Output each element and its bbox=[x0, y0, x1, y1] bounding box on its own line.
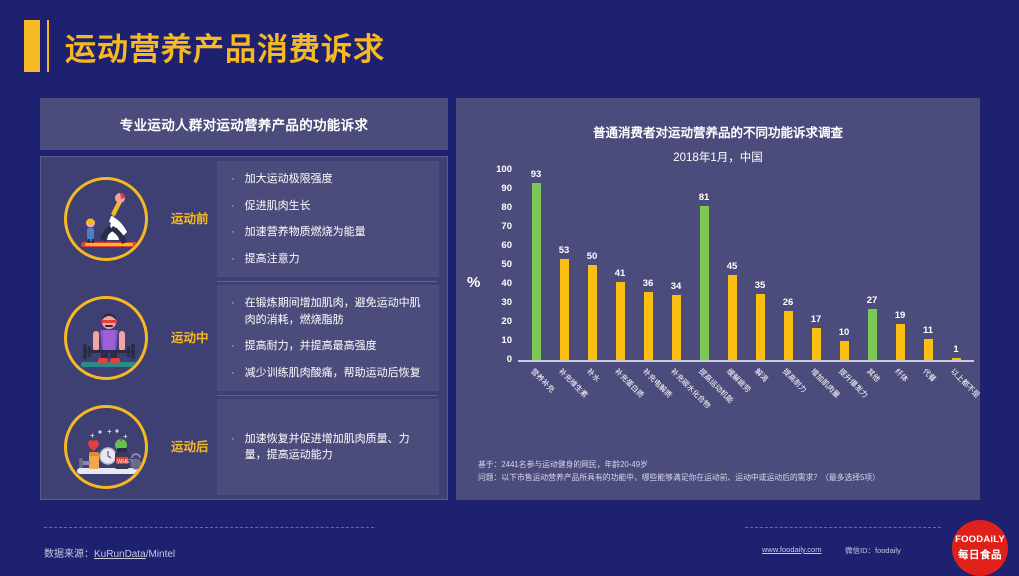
bullet-marker: · bbox=[231, 198, 235, 215]
x-label-slot: 代餐 bbox=[914, 364, 942, 464]
y-axis-tick: 70 bbox=[486, 221, 512, 232]
phase-row: + + + bbox=[41, 395, 447, 499]
footer-rule-left bbox=[44, 527, 374, 528]
left-panel: 专业运动人群对运动营养产品的功能诉求 bbox=[40, 98, 448, 500]
list-item: · 加速恢复并促进增加肌肉质量、力量，提高运动能力 bbox=[231, 431, 425, 464]
bar[interactable] bbox=[868, 309, 877, 360]
x-label-slot: 纤体 bbox=[886, 364, 914, 464]
y-axis-tick: 80 bbox=[486, 202, 512, 213]
list-item: · 在锻炼期间增加肌肉，避免运动中肌肉的消耗，燃烧脂肪 bbox=[231, 295, 425, 328]
list-item: · 促进肌肉生长 bbox=[231, 198, 425, 215]
chart-plot-area: % 1009080706050403020100 935350413634814… bbox=[456, 170, 980, 470]
phase-label: 运动后 bbox=[171, 440, 217, 455]
bar-slot: 45 bbox=[718, 170, 746, 360]
bullet-text: 在锻炼期间增加肌肉，避免运动中肌肉的消耗，燃烧脂肪 bbox=[245, 295, 425, 328]
y-axis-tick: 20 bbox=[486, 316, 512, 327]
bar[interactable] bbox=[616, 282, 625, 360]
svg-text:+: + bbox=[123, 432, 128, 441]
bar[interactable] bbox=[532, 183, 541, 360]
bar-slot: 27 bbox=[858, 170, 886, 360]
footer-rule-right bbox=[745, 527, 941, 528]
x-label-slot: 补充蛋白质 bbox=[606, 364, 634, 464]
phase-bullets: · 在锻炼期间增加肌肉，避免运动中肌肉的消耗，燃烧脂肪 · 提高耐力，并提高最高… bbox=[217, 285, 439, 391]
x-label-slot: 补充维生素 bbox=[550, 364, 578, 464]
bar-slot: 10 bbox=[830, 170, 858, 360]
phase-row: 运动前 · 加大运动极限强度 · 促进肌肉生长 · 加速营养物质燃烧为能量 · … bbox=[41, 157, 447, 281]
x-label-slot: 营养补充 bbox=[522, 364, 550, 464]
bullet-text: 加速恢复并促进增加肌肉质量、力量，提高运动能力 bbox=[245, 431, 425, 464]
bar[interactable] bbox=[644, 292, 653, 360]
foodaily-logo: FOODAiLY 每日食品 bbox=[952, 520, 1008, 576]
bullet-text: 提高耐力，并提高最高强度 bbox=[245, 338, 377, 355]
bullet-marker: · bbox=[231, 224, 235, 241]
x-axis-tick-label: 代餐 bbox=[920, 366, 938, 384]
x-axis-tick-label: 补水 bbox=[584, 366, 602, 384]
data-source: 数据来源：KuRunData/Mintel bbox=[44, 545, 175, 560]
x-axis-tick-label: 以上都不是 bbox=[948, 366, 982, 400]
bullet-text: 提高注意力 bbox=[245, 251, 300, 268]
logo-text-cn: 每日食品 bbox=[958, 547, 1002, 562]
title-accent-bar bbox=[24, 20, 40, 72]
bullet-marker: · bbox=[231, 295, 235, 312]
x-axis-tick-label: 解渴 bbox=[752, 366, 770, 384]
bars-container: 9353504136348145352617102719111 bbox=[522, 170, 970, 360]
y-axis-tick: 90 bbox=[486, 183, 512, 194]
y-axis-tick: 0 bbox=[486, 354, 512, 365]
phase-label: 运动前 bbox=[171, 212, 217, 227]
list-item: · 提高耐力，并提高最高强度 bbox=[231, 338, 425, 355]
y-axis-tick: 50 bbox=[486, 259, 512, 270]
phase-bullets: · 加速恢复并促进增加肌肉质量、力量，提高运动能力 bbox=[217, 399, 439, 495]
logo-text-en: FOODAiLY bbox=[955, 534, 1005, 545]
bullet-text: 加大运动极限强度 bbox=[245, 171, 333, 188]
chart-panel: 普通消费者对运动营养品的不同功能诉求调查 2018年1月，中国 % 100908… bbox=[456, 98, 980, 500]
chart-title: 普通消费者对运动营养品的不同功能诉求调查 bbox=[456, 122, 980, 141]
bar[interactable] bbox=[700, 206, 709, 360]
phase-icon-cell: + + + bbox=[41, 405, 171, 489]
x-axis-labels: 营养补充补充维生素补水补充蛋白质补充电解质补充碳水化合物提高运动机能缓解疲劳解渴… bbox=[522, 364, 970, 464]
x-label-slot: 以上都不是 bbox=[942, 364, 970, 464]
bullet-marker: · bbox=[231, 431, 235, 448]
phase-bullets: · 加大运动极限强度 · 促进肌肉生长 · 加速营养物质燃烧为能量 · 提高注意… bbox=[217, 161, 439, 277]
svg-text:+: + bbox=[107, 427, 112, 436]
y-axis-tick: 60 bbox=[486, 240, 512, 251]
bullet-marker: · bbox=[231, 365, 235, 382]
bar-slot: 41 bbox=[606, 170, 634, 360]
data-source-label: 数据来源： bbox=[44, 549, 94, 560]
bar[interactable] bbox=[728, 275, 737, 361]
x-label-slot: 补水 bbox=[578, 364, 606, 464]
phase-icon-cell bbox=[41, 177, 171, 261]
left-panel-header: 专业运动人群对运动营养产品的功能诉求 bbox=[40, 98, 448, 150]
x-label-slot: 补充电解质 bbox=[634, 364, 662, 464]
y-axis-tick: 10 bbox=[486, 335, 512, 346]
y-axis-label: % bbox=[467, 274, 480, 291]
wechat-id: 微信ID：foodaily bbox=[845, 545, 901, 556]
bullet-text: 促进肌肉生长 bbox=[245, 198, 311, 215]
list-item: · 提高注意力 bbox=[231, 251, 425, 268]
x-label-slot: 缓解疲劳 bbox=[718, 364, 746, 464]
x-label-slot: 解渴 bbox=[746, 364, 774, 464]
x-label-slot: 增加肌肉量 bbox=[802, 364, 830, 464]
footnote-base: 基于：2441名参与运动健身的网民，年龄20-49岁 bbox=[478, 458, 970, 471]
list-item: · 加速营养物质燃烧为能量 bbox=[231, 224, 425, 241]
bar[interactable] bbox=[812, 328, 821, 360]
bullet-text: 加速营养物质燃烧为能量 bbox=[245, 224, 366, 241]
x-axis-line bbox=[518, 360, 974, 362]
bullet-text: 减少训练肌肉酸痛，帮助运动后恢复 bbox=[245, 365, 421, 382]
x-label-slot: 补充碳水化合物 bbox=[662, 364, 690, 464]
bar[interactable] bbox=[924, 339, 933, 360]
data-source-link[interactable]: KuRunData bbox=[94, 549, 146, 560]
phase-icon-cell bbox=[41, 296, 171, 380]
x-axis-tick-label: 纤体 bbox=[892, 366, 910, 384]
x-label-slot: 提高运动机能 bbox=[690, 364, 718, 464]
bar[interactable] bbox=[560, 259, 569, 360]
page-title: 运动营养产品消费诉求 bbox=[65, 24, 385, 69]
bullet-marker: · bbox=[231, 171, 235, 188]
yoga-illustration-icon bbox=[64, 177, 148, 261]
page-header: 运动营养产品消费诉求 bbox=[0, 0, 1019, 92]
bar[interactable] bbox=[784, 311, 793, 360]
bar-slot: 93 bbox=[522, 170, 550, 360]
svg-text:+: + bbox=[90, 431, 95, 440]
left-panel-body: 运动前 · 加大运动极限强度 · 促进肌肉生长 · 加速营养物质燃烧为能量 · … bbox=[40, 156, 448, 500]
bar[interactable] bbox=[588, 265, 597, 360]
left-panel-header-text: 专业运动人群对运动营养产品的功能诉求 bbox=[120, 114, 368, 134]
x-label-slot: 提高耐力 bbox=[774, 364, 802, 464]
y-axis-tick: 40 bbox=[486, 278, 512, 289]
bar-slot: 50 bbox=[578, 170, 606, 360]
site-url-link[interactable]: www.foodaily.com bbox=[762, 545, 821, 554]
y-axis-tick: 100 bbox=[486, 164, 512, 175]
y-axis-tick: 30 bbox=[486, 297, 512, 308]
bar-slot: 53 bbox=[550, 170, 578, 360]
bar-slot: 26 bbox=[774, 170, 802, 360]
bullet-marker: · bbox=[231, 338, 235, 355]
bar-slot: 1 bbox=[942, 170, 970, 360]
footnote-question: 问题：以下市售运动营养产品所具有的功能中，哪些能够满足你在运动前、运动中或运动后… bbox=[478, 471, 970, 484]
list-item: · 减少训练肌肉酸痛，帮助运动后恢复 bbox=[231, 365, 425, 382]
bar[interactable] bbox=[672, 295, 681, 360]
bar-value-label: 1 bbox=[936, 344, 976, 355]
bar[interactable] bbox=[896, 324, 905, 360]
phase-label: 运动中 bbox=[171, 331, 217, 346]
x-label-slot: 其他 bbox=[858, 364, 886, 464]
bullet-marker: · bbox=[231, 251, 235, 268]
bar-slot: 36 bbox=[634, 170, 662, 360]
bar[interactable] bbox=[840, 341, 849, 360]
x-axis-tick-label: 其他 bbox=[864, 366, 882, 384]
bar-slot: 11 bbox=[914, 170, 942, 360]
phase-row: 运动中 · 在锻炼期间增加肌肉，避免运动中肌肉的消耗，燃烧脂肪 · 提高耐力，并… bbox=[41, 281, 447, 395]
chart-subtitle: 2018年1月，中国 bbox=[456, 149, 980, 165]
title-accent-line bbox=[47, 20, 49, 72]
weightlifter-illustration-icon bbox=[64, 296, 148, 380]
data-source-rest: /Mintel bbox=[146, 549, 175, 560]
list-item: · 加大运动极限强度 bbox=[231, 171, 425, 188]
x-label-slot: 提升爆发力 bbox=[830, 364, 858, 464]
bar[interactable] bbox=[756, 294, 765, 361]
whey-supplement-illustration-icon: + + + bbox=[64, 405, 148, 489]
chart-footnotes: 基于：2441名参与运动健身的网民，年龄20-49岁 问题：以下市售运动营养产品… bbox=[478, 458, 970, 485]
bar-slot: 35 bbox=[746, 170, 774, 360]
